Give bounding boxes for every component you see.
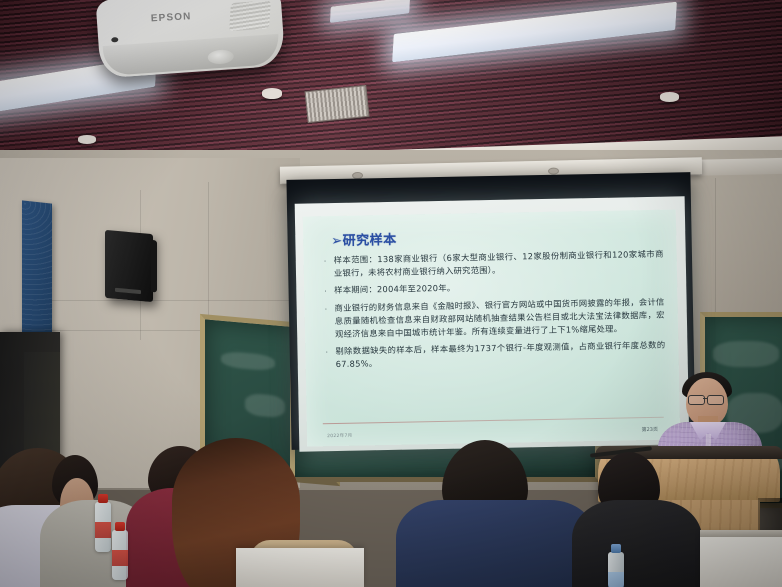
smoke-detector-icon (660, 92, 679, 102)
bullet-marker: · (324, 254, 331, 281)
bullet-marker: · (324, 302, 331, 342)
bottle-cap (98, 494, 108, 503)
bottle-label (95, 522, 111, 538)
projector-vent-grille (229, 0, 271, 31)
smoke-detector-icon (78, 135, 96, 144)
slide-bullet-text: 剔除数据缺失的样本后，样本最终为1737个银行-年度观测值，占商业银行年度总数的… (335, 339, 665, 372)
slide-footer-date: 2022年7月 (327, 433, 353, 439)
wall-speaker (105, 230, 153, 302)
slide-bullet: · 商业银行的财务信息来自《金融时报》、银行官方网站或中国货币网披露的年报，会计… (324, 295, 665, 341)
presentation-slide: ➢研究样本 · 样本范围：138家商业银行（6家大型商业银行、12家股份制商业银… (303, 209, 680, 446)
ceiling-projector: EPSON (96, 0, 286, 78)
glasses-bridge (703, 398, 708, 399)
slide-bullet-text: 商业银行的财务信息来自《金融时报》、银行官方网站或中国货币网披露的年报，会计信息… (334, 295, 665, 341)
bullet-marker: · (325, 345, 332, 372)
desk-edge (700, 530, 782, 537)
water-bottle (608, 552, 624, 587)
water-bottle (112, 530, 128, 580)
speaker-brand-badge (115, 288, 141, 294)
housing-screw (548, 167, 559, 174)
slide-bullet: · 剔除数据缺失的样本后，样本最终为1737个银行-年度观测值，占商业银行年度总… (325, 339, 665, 372)
wall-panel-seam (715, 178, 716, 318)
attendee-jacket (572, 500, 702, 587)
water-bottle (95, 502, 111, 552)
slide-footer-divider (323, 417, 664, 425)
smoke-detector-icon (262, 88, 282, 99)
bottle-cap (611, 544, 621, 553)
bullet-marker: · (324, 284, 330, 297)
bottle-label (112, 550, 128, 566)
attendee-shirt (396, 500, 596, 587)
projector-brand-label: EPSON (151, 11, 192, 24)
bottle-cap (115, 522, 125, 531)
glasses-icon (688, 395, 705, 405)
slide-body: · 样本范围：138家商业银行（6家大型商业银行、12家股份制商业银行和120家… (324, 248, 666, 376)
desk-surface (236, 548, 364, 587)
air-vent-icon (304, 85, 369, 123)
slide-bullet-text: 样本期间：2004年至2020年。 (334, 282, 455, 298)
glasses-icon (707, 395, 724, 405)
slide-bullet: · 样本期间：2004年至2020年。 (324, 278, 664, 298)
slide-bullet-text: 样本范围：138家商业银行（6家大型商业银行、12家股份制商业银行和120家城市… (334, 248, 664, 281)
bottle-label (608, 572, 624, 587)
slide-title: ➢研究样本 (331, 229, 397, 249)
wall-panel-seam (40, 300, 290, 301)
slide-bullet: · 样本范围：138家商业银行（6家大型商业银行、12家股份制商业银行和120家… (324, 248, 664, 281)
lecture-hall-scene: EPSON ➢研究样本 · 样本范 (0, 0, 782, 587)
wall-panel-seam (208, 182, 209, 332)
desk-surface (700, 534, 782, 587)
